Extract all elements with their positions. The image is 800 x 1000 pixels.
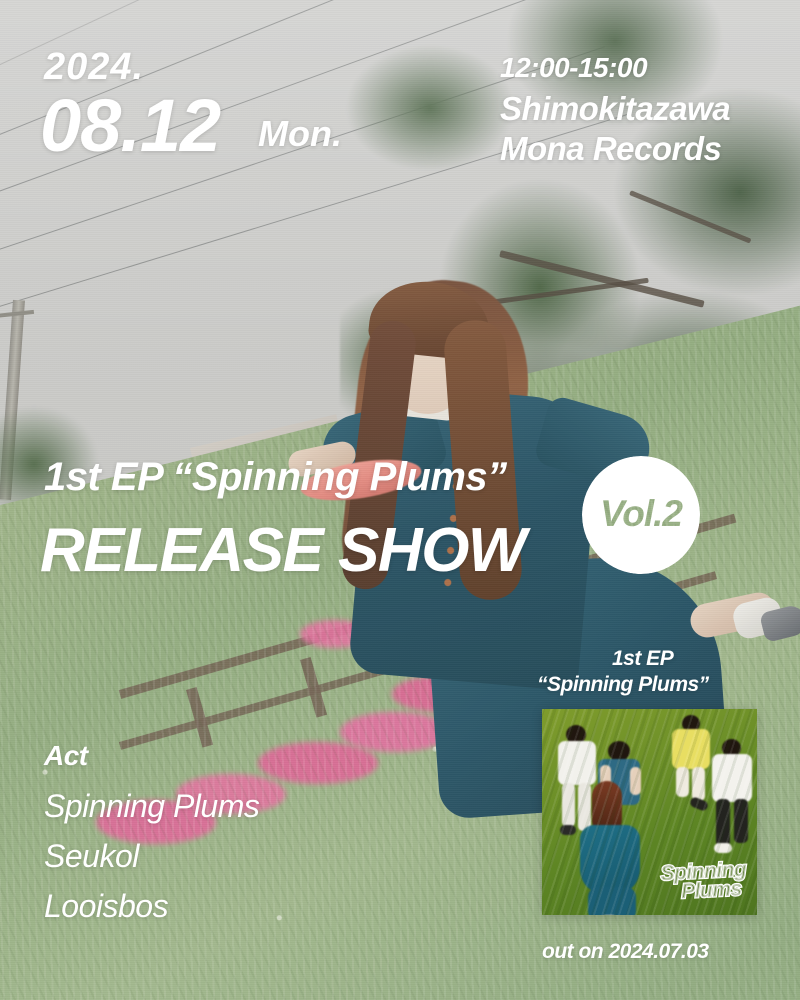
venue-name-line-2: Mona Records	[500, 130, 721, 168]
ep-caption-line-2: “Spinning Plums”	[537, 673, 709, 697]
headline-ep-line: 1st EP “Spinning Plums”	[44, 455, 507, 500]
poster-canvas: Spinning Plums 2024. 08.12 Mon. 12:00-15…	[0, 0, 800, 1000]
ep-caption-line-1: 1st EP	[612, 647, 673, 671]
act-heading: Act	[44, 740, 88, 772]
headline-main-line: RELEASE SHOW	[40, 515, 525, 586]
act-name: Looisbos	[44, 888, 168, 925]
volume-badge: Vol.2	[582, 456, 700, 574]
text-overlay: 2024. 08.12 Mon. 12:00-15:00 Shimokitaza…	[0, 0, 800, 1000]
venue-name-line-1: Shimokitazawa	[500, 90, 730, 128]
venue-time: 12:00-15:00	[500, 52, 647, 84]
act-name: Spinning Plums	[44, 788, 259, 825]
act-name: Seukol	[44, 838, 139, 875]
date-day: 08.12	[40, 83, 220, 168]
release-out-on: out on 2024.07.03	[542, 940, 709, 964]
date-weekday: Mon.	[258, 113, 342, 155]
